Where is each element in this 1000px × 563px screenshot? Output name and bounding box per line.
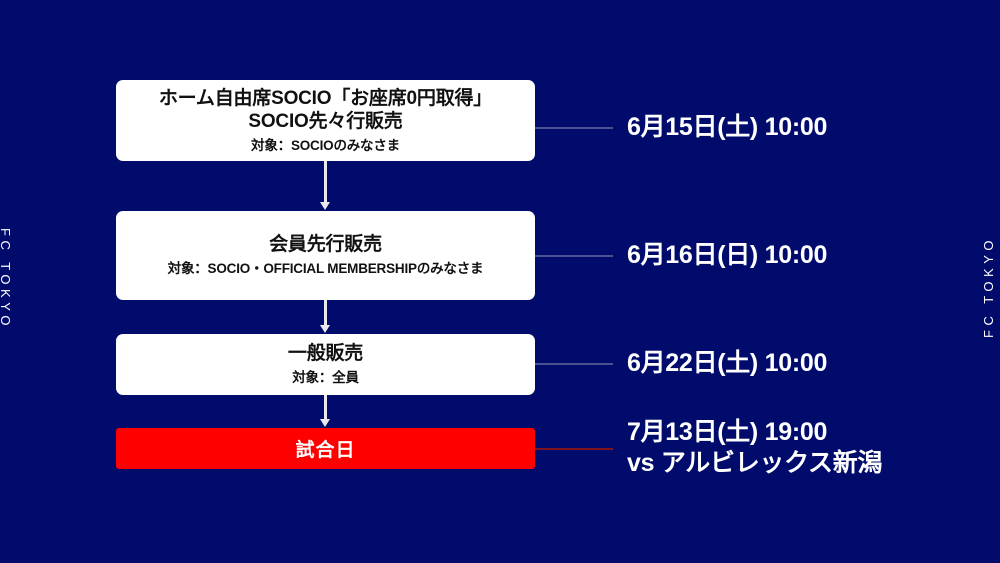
step-box-general-sale: 一般販売 対象：全員 bbox=[116, 334, 535, 395]
connector-line-icon bbox=[535, 127, 613, 129]
step-box-match-day: 試合日 bbox=[116, 428, 535, 469]
step-date-socio-advance-sale: 6月15日(土) 10:00 bbox=[627, 112, 827, 143]
step-date-member-advance-sale: 6月16日(日) 10:00 bbox=[627, 240, 827, 271]
step-date-general-sale: 6月22日(土) 10:00 bbox=[627, 348, 827, 379]
step-subtitle: 対象：全員 bbox=[292, 369, 359, 387]
brand-label-left: FC TOKYO bbox=[0, 228, 13, 330]
step-title: 試合日 bbox=[295, 435, 355, 462]
step-title: ホーム自由席SOCIO「お座席0円取得」 SOCIO先々行販売 bbox=[159, 87, 492, 133]
step-date-match-day: 7月13日(土) 19:00 vs アルビレックス新潟 bbox=[627, 417, 882, 479]
step-title: 会員先行販売 bbox=[269, 233, 382, 256]
down-arrow-icon bbox=[324, 300, 327, 326]
match-date-line: 7月13日(土) 19:00 bbox=[627, 417, 882, 448]
step-title-line-1: 会員先行販売 bbox=[269, 233, 382, 256]
brand-label-right: FC TOKYO bbox=[981, 236, 996, 338]
step-title-line-2: SOCIO先々行販売 bbox=[159, 110, 492, 133]
down-arrow-icon bbox=[324, 395, 327, 420]
connector-line-icon bbox=[535, 255, 613, 257]
step-subtitle: 対象：SOCIOのみなさま bbox=[251, 137, 400, 155]
connector-line-icon bbox=[535, 363, 613, 365]
step-box-socio-advance-sale: ホーム自由席SOCIO「お座席0円取得」 SOCIO先々行販売 対象：SOCIO… bbox=[116, 80, 535, 161]
down-arrow-icon bbox=[324, 161, 327, 203]
ticket-sales-timeline-diagram: FC TOKYO FC TOKYO ホーム自由席SOCIO「お座席0円取得」 S… bbox=[0, 0, 1000, 563]
step-title-line-1: ホーム自由席SOCIO「お座席0円取得」 bbox=[159, 87, 492, 110]
step-subtitle: 対象：SOCIO・OFFICIAL MEMBERSHIPのみなさま bbox=[168, 260, 484, 278]
match-opponent-line: vs アルビレックス新潟 bbox=[627, 448, 882, 479]
connector-line-icon bbox=[535, 448, 613, 450]
step-title: 一般販売 bbox=[288, 342, 363, 365]
step-title-line-1: 一般販売 bbox=[288, 342, 363, 365]
step-box-member-advance-sale: 会員先行販売 対象：SOCIO・OFFICIAL MEMBERSHIPのみなさま bbox=[116, 211, 535, 300]
